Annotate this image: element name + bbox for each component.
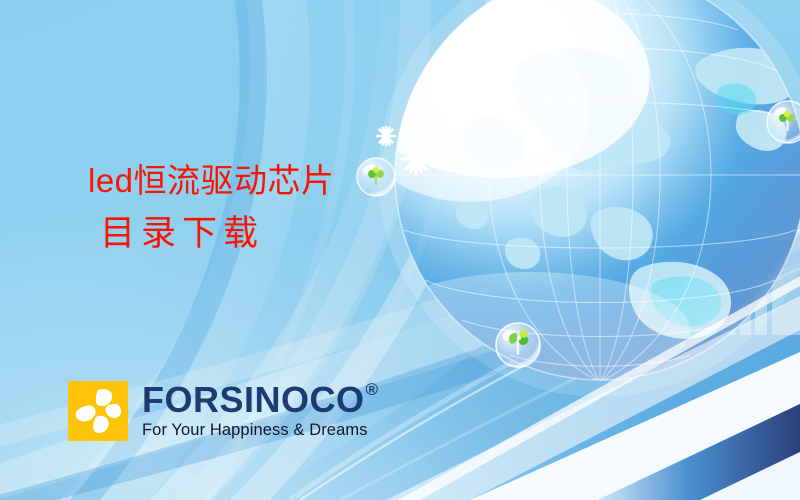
headline-line-1: led恒流驱动芯片 xyxy=(88,162,335,201)
brand-tagline: For Your Happiness & Dreams xyxy=(142,421,379,440)
promo-banner: led恒流驱动芯片 目录下载 FORSINOCO® xyxy=(0,0,800,500)
sparkle-star-small xyxy=(377,127,395,145)
headline-block: led恒流驱动芯片 目录下载 xyxy=(88,162,335,254)
sparkle-star-large xyxy=(402,145,430,173)
brand-wordmark: FORSINOCO® xyxy=(142,382,379,418)
bubble-windmill-middle xyxy=(496,323,540,367)
forsinoco-logo-mark xyxy=(68,381,128,441)
bubble-windmill-top xyxy=(357,158,395,196)
brand-logo-lockup: FORSINOCO® For Your Happiness & Dreams xyxy=(68,381,379,441)
brand-text-block: FORSINOCO® For Your Happiness & Dreams xyxy=(142,381,379,440)
headline-line-2: 目录下载 xyxy=(100,213,335,254)
registered-trademark-symbol: ® xyxy=(366,381,379,398)
brand-name: FORSINOCO xyxy=(142,382,365,418)
pinwheel-icon xyxy=(68,381,128,441)
